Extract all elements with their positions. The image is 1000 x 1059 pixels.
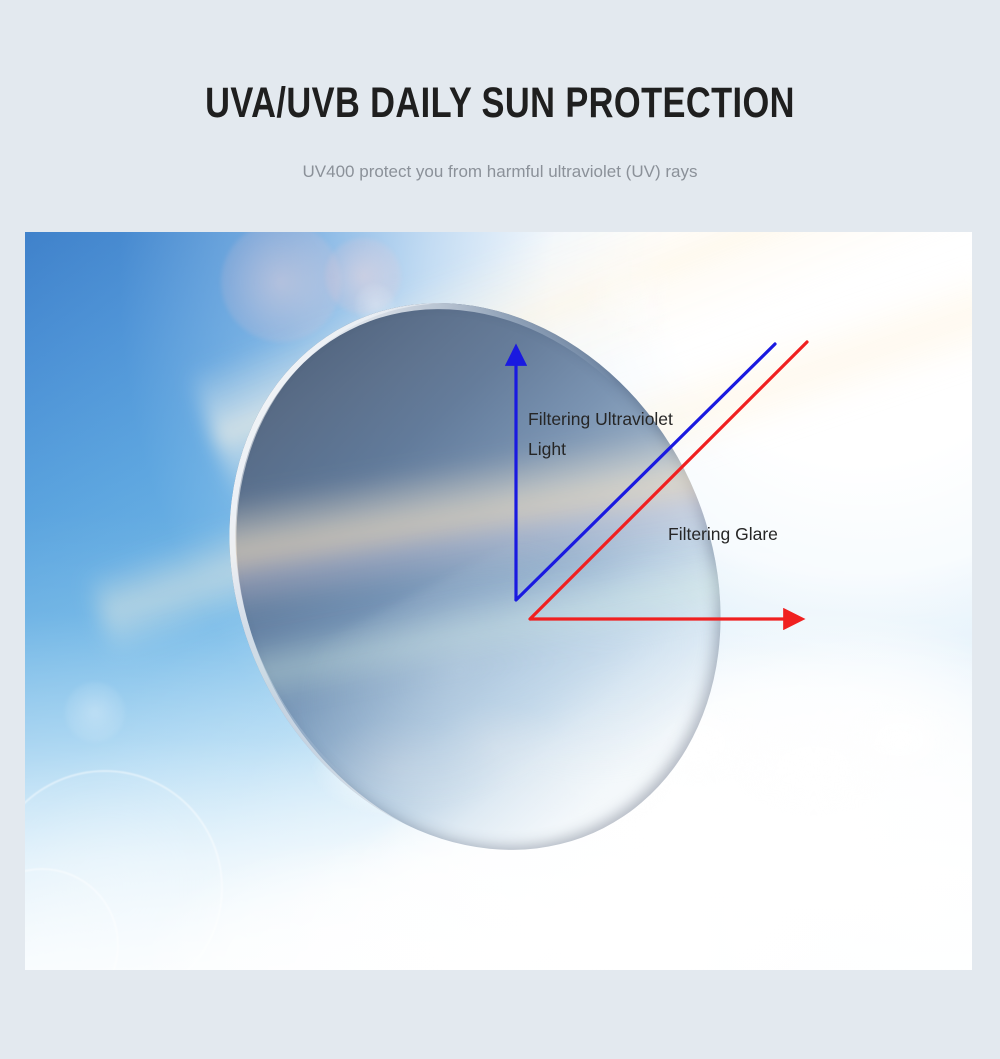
product-diagram-image: Filtering Ultraviolet Light Filtering Gl… [25,232,972,970]
light-ray-vectors [25,232,972,970]
label-filtering-ultraviolet: Filtering Ultraviolet Light [528,404,728,464]
page-subtitle: UV400 protect you from harmful ultraviol… [0,162,1000,182]
incoming-uv-ray [516,344,775,600]
label-filtering-glare: Filtering Glare [668,519,778,549]
header-section: UVA/UVB DAILY SUN PROTECTION UV400 prote… [0,0,1000,232]
page-title: UVA/UVB DAILY SUN PROTECTION [100,79,900,128]
incoming-glare-ray [530,342,807,619]
